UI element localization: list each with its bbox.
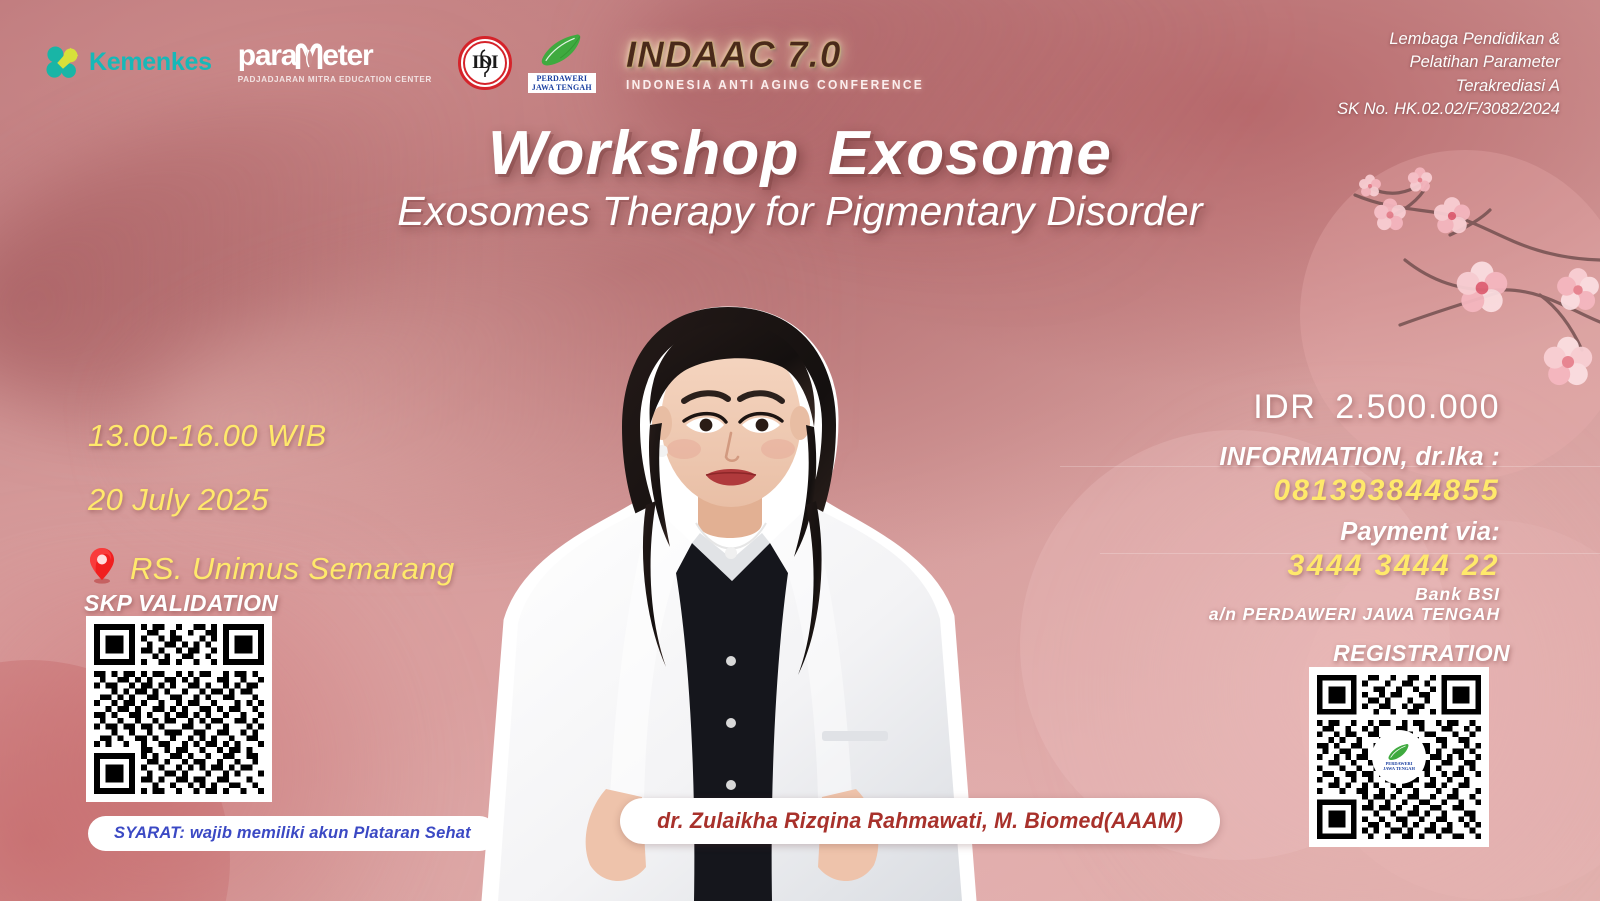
perdaweri-leaf-icon	[532, 32, 592, 68]
indaac-subtitle: INDONESIA ANTI AGING CONFERENCE	[626, 78, 924, 92]
indaac-wordmark: INDAAC 7.0	[626, 34, 937, 76]
poster-root: Kemenkes para eter PADJADJARAN MITRA EDU…	[0, 0, 1600, 901]
qr-center-perdaweri-logo: PERDAWERI JAWA TENGAH	[1372, 730, 1426, 784]
perdaweri-line1: PERDAWERI	[530, 74, 594, 83]
event-time: 13.00-16.00 WIB	[88, 418, 455, 454]
event-time-text: 13.00-16.00 WIB	[88, 418, 327, 454]
accreditation-line-3: Terakrediasi A	[1337, 75, 1560, 98]
kemenkes-flower-icon	[44, 44, 82, 82]
event-venue: RS. Unimus Semarang	[88, 546, 455, 592]
partner-logos: Kemenkes para eter PADJADJARAN MITRA EDU…	[44, 32, 936, 93]
accreditation-line-2: Pelatihan Parameter	[1337, 51, 1560, 74]
kemenkes-wordmark: Kemenkes	[89, 48, 212, 77]
perdaweri-banner: PERDAWERI JAWA TENGAH	[528, 73, 596, 93]
event-date-text: 20 July 2025	[88, 482, 269, 518]
parameter-subtitle: PADJADJARAN MITRA EDUCATION CENTER	[238, 75, 432, 84]
information-label: INFORMATION, dr.Ika :	[1219, 443, 1500, 472]
skp-requirement-pill: SYARAT: wajib memiliki akun Plataran Seh…	[88, 816, 497, 851]
map-pin-icon	[88, 546, 116, 592]
speaker-name-text: dr. Zulaikha Rizqina Rahmawati, M. Biome…	[657, 808, 1183, 834]
skp-validation-label: SKP VALIDATION	[84, 590, 278, 617]
logo-idi: IDI	[458, 36, 512, 90]
logo-perdaweri: PERDAWERI JAWA TENGAH	[528, 32, 596, 93]
parameter-wordmark: para eter	[238, 41, 432, 71]
payment-label: Payment via:	[1340, 518, 1500, 547]
parameter-m-icon	[295, 41, 323, 71]
perdaweri-line2: JAWA TENGAH	[530, 83, 594, 92]
information-phone[interactable]: 081393844855	[1273, 474, 1500, 508]
accreditation-line-1: Lembaga Pendidikan &	[1337, 28, 1560, 51]
registration-label: REGISTRATION	[1333, 640, 1510, 667]
logo-kemenkes: Kemenkes	[44, 44, 212, 82]
qr-code-skp-icon	[94, 624, 264, 794]
payment-bank-name: Bank BSI	[1415, 584, 1500, 605]
speaker-name-banner: dr. Zulaikha Rizqina Rahmawati, M. Biome…	[620, 798, 1220, 844]
parameter-text-b: eter	[322, 41, 372, 71]
page-subtitle: Exosomes Therapy for Pigmentary Disorder	[0, 188, 1600, 235]
accreditation-block: Lembaga Pendidikan & Pelatihan Parameter…	[1337, 28, 1560, 122]
event-venue-text: RS. Unimus Semarang	[130, 551, 455, 587]
logo-parameter: para eter PADJADJARAN MITRA EDUCATION CE…	[238, 41, 432, 84]
skp-requirement-text: SYARAT: wajib memiliki akun Plataran Seh…	[114, 824, 471, 842]
payment-account-number: 3444 3444 22	[1288, 549, 1500, 583]
perdaweri-leaf-icon	[1385, 742, 1413, 762]
parameter-text-a: para	[238, 41, 297, 71]
skp-validation-qr-code[interactable]	[86, 616, 272, 802]
qr-logo-line2: JAWA TENGAH	[1383, 767, 1415, 772]
registration-qr-code[interactable]: PERDAWERI JAWA TENGAH	[1309, 667, 1489, 847]
price-amount: IDR 2.500.000	[1253, 388, 1500, 427]
logo-indaac: INDAAC 7.0 INDONESIA ANTI AGING CONFEREN…	[626, 34, 937, 92]
page-title: Workshop Exosome	[0, 118, 1600, 189]
event-date: 20 July 2025	[88, 482, 455, 518]
payment-account-holder: a/n PERDAWERI JAWA TENGAH	[1209, 604, 1500, 625]
idi-wordmark: IDI	[458, 36, 512, 90]
